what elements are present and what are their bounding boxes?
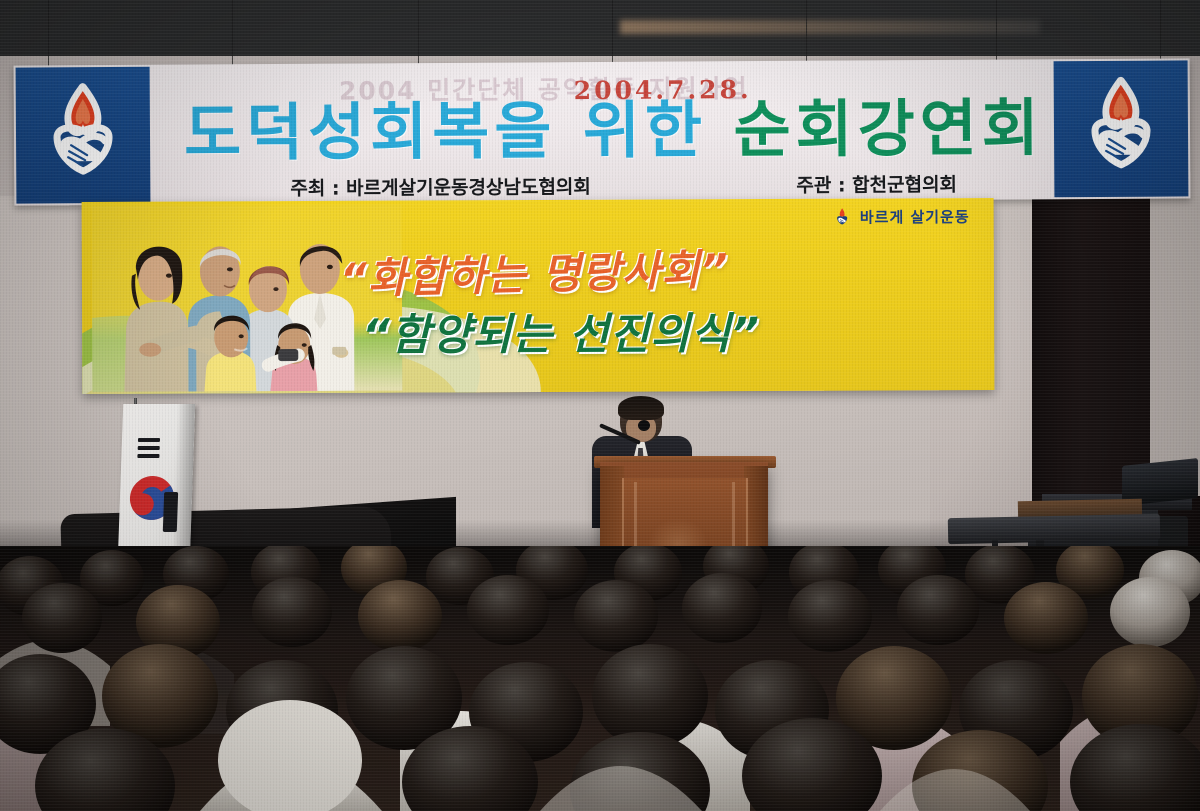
brand-lockup: 바르게 살기운동 [832, 206, 970, 228]
banner-hanging-wire [806, 0, 807, 68]
seated-audience-rear-view [0, 546, 1200, 811]
slogan-line-2: “함양되는 선진의식” [362, 298, 994, 363]
flame-handshake-icon [1069, 75, 1174, 184]
banner-logo-panel-left [16, 67, 151, 204]
slogan-banner: 바르게 살기운동 “화합하는 명랑사회” “함양되는 선진의식” [82, 198, 995, 394]
photo-scene: 2004 민간단체 공익활동 지원사업 2004.7.28. 도덕성회복을 위한… [0, 0, 1200, 811]
trigram-bar [137, 454, 159, 458]
banner-organizer-label: 주관 : 합천군협의회 [796, 170, 957, 198]
speaker-hair [618, 396, 664, 420]
main-event-banner: 2004 민간단체 공익활동 지원사업 2004.7.28. 도덕성회복을 위한… [14, 58, 1191, 205]
banner-hanging-wire [612, 0, 613, 68]
banner-hanging-wire [996, 0, 997, 68]
electronic-keyboard [948, 514, 1160, 544]
trigram-bar [138, 446, 160, 450]
trigram-bar [138, 438, 160, 442]
banner-hanging-wire [48, 0, 49, 68]
flame-handshake-icon [832, 207, 853, 228]
banner-hanging-wire [418, 0, 419, 68]
banner-title-part2: 순회강연회 [733, 91, 1044, 166]
banner-hanging-wire [232, 0, 233, 68]
banner-logo-panel-right [1054, 60, 1189, 197]
wall-right-strip [1150, 196, 1200, 496]
ceiling-warm-highlight [620, 20, 1040, 34]
flame-handshake-icon [31, 81, 136, 190]
banner-title-part1: 도덕성회복을 위한 [184, 93, 707, 169]
page-title: 도덕성회복을 위한 순회강연회 [164, 97, 1064, 164]
microphone-capsule [638, 420, 650, 431]
banner-host-label: 주최 : 바르게살기운동경상남도협의회 [290, 172, 591, 201]
slogan-line-1: “화합하는 명랑사회” [339, 229, 980, 306]
brand-name: 바르게 살기운동 [860, 206, 970, 227]
audience-crowd [0, 546, 1200, 811]
